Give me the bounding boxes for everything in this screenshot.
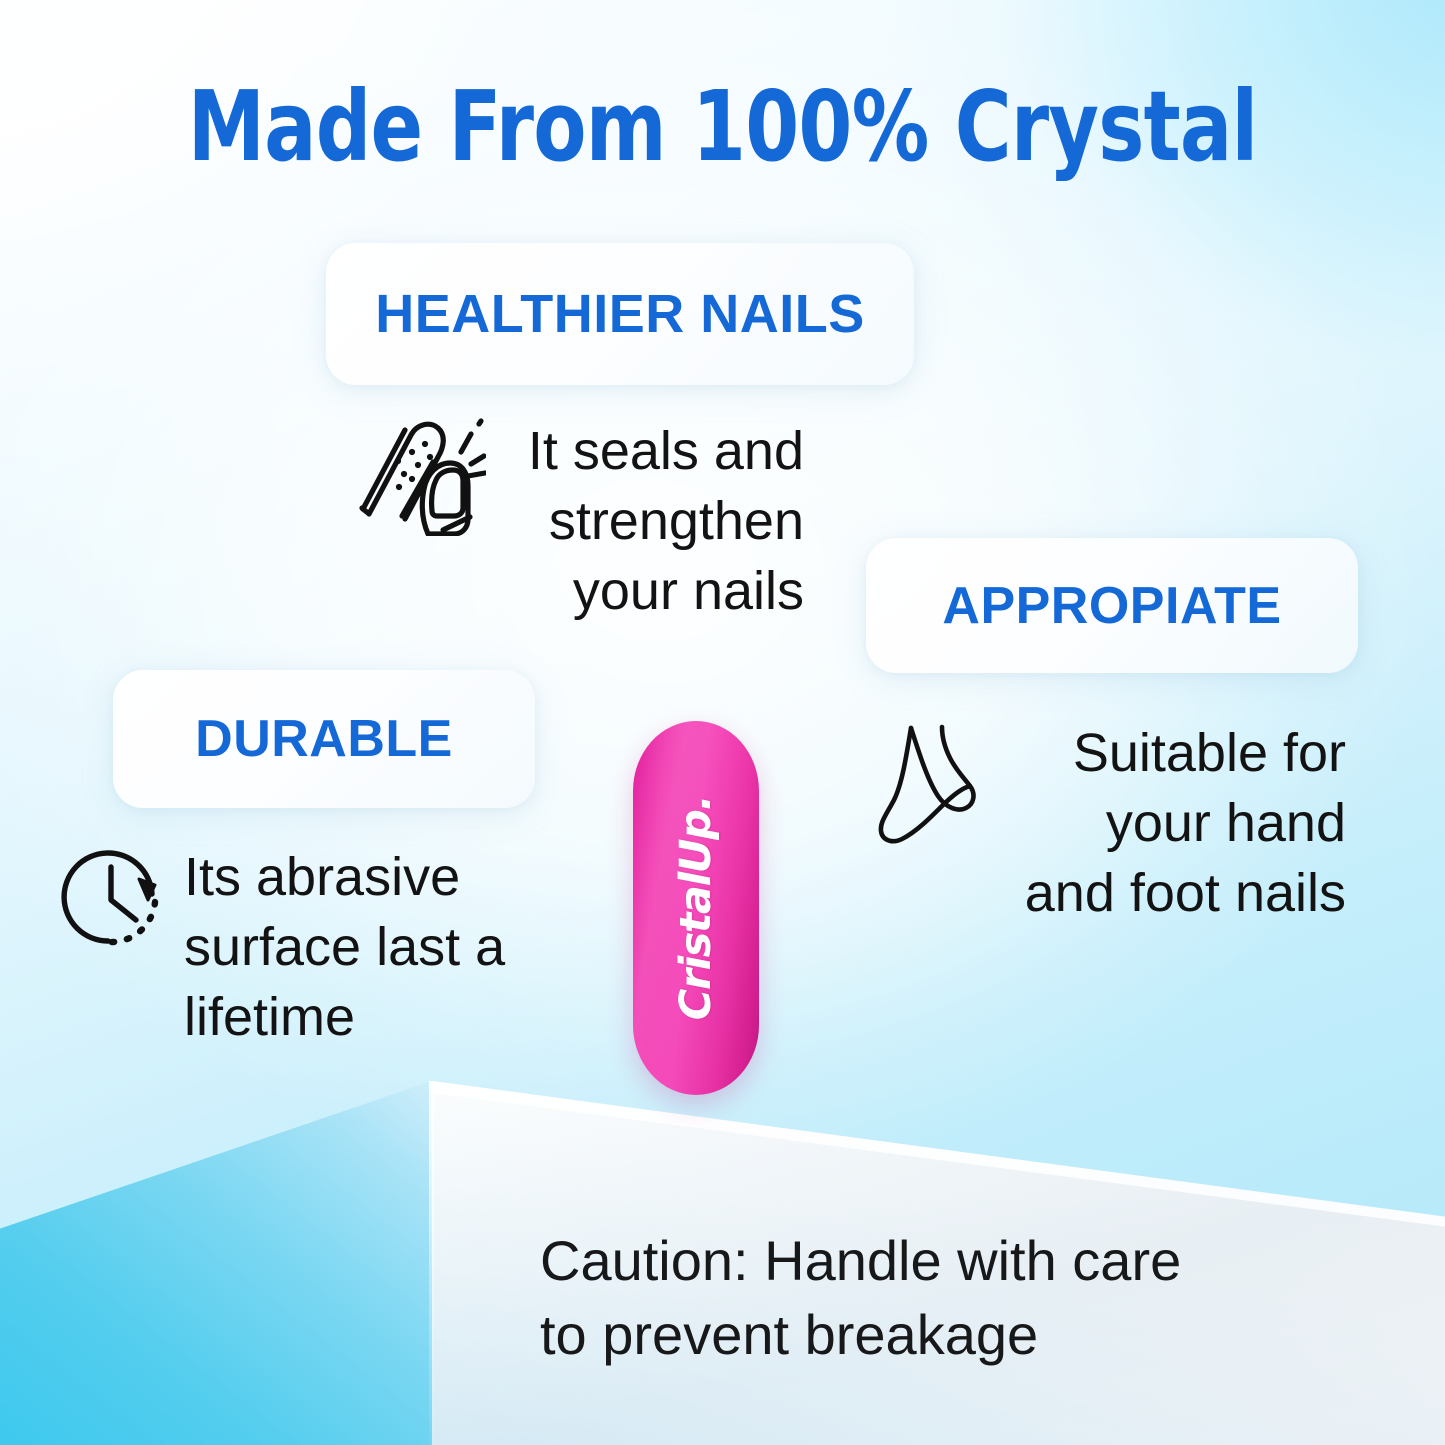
- headline-part-2: 100% Crystal: [692, 70, 1257, 183]
- feature-seals-strengthen: It seals and strengthen your nails: [358, 416, 828, 627]
- infographic-canvas: Made From 100% Crystal HEALTHIER NAILS A…: [0, 0, 1445, 1445]
- badge-label: APPROPIATE: [942, 576, 1281, 636]
- product-brand-label: CristalUp.: [671, 796, 721, 1020]
- feature-hand-foot-nails: Suitable for your hand and foot nails: [876, 718, 1346, 929]
- clock-arrow-icon: [60, 842, 170, 954]
- badge-durable: DURABLE: [113, 670, 535, 808]
- foot-icon: [876, 718, 992, 850]
- badge-appropiate: APPROPIATE: [866, 538, 1358, 673]
- caution-line-2: to prevent breakage: [540, 1298, 1260, 1372]
- badge-healthier-nails: HEALTHIER NAILS: [326, 243, 914, 385]
- nail-file-icon: [358, 416, 486, 536]
- badge-label: HEALTHIER NAILS: [375, 283, 865, 345]
- feature-label: Suitable for your hand and foot nails: [1006, 718, 1346, 929]
- feature-label: Its abrasive surface last a lifetime: [184, 842, 514, 1053]
- feature-label: It seals and strengthen your nails: [504, 416, 804, 627]
- headline-part-1: Made From: [188, 70, 692, 183]
- product-nail-file: CristalUp.: [633, 721, 759, 1095]
- feature-abrasive-lifetime: Its abrasive surface last a lifetime: [60, 842, 520, 1053]
- badge-label: DURABLE: [195, 709, 453, 769]
- caution-note: Caution: Handle with care to prevent bre…: [540, 1224, 1260, 1372]
- page-title: Made From 100% Crystal: [145, 76, 1301, 178]
- pedestal-corner-edge: [429, 1081, 434, 1445]
- caution-line-1: Caution: Handle with care: [540, 1224, 1260, 1298]
- pedestal-left-face: [0, 1081, 432, 1445]
